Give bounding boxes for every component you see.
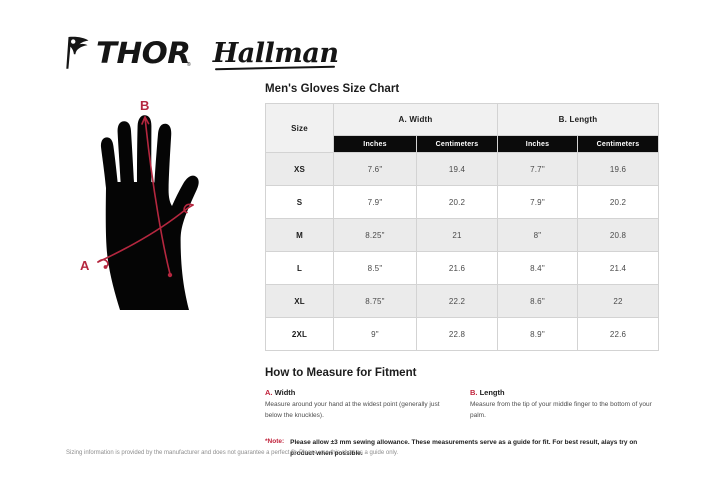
table-row: S 7.9" 20.2 7.9" 20.2 [266,186,659,219]
length-marker-letter: B. [470,388,478,397]
how-to-width-block: A. Width Measure around your hand at the… [265,388,452,421]
thor-helmet-icon [64,35,94,71]
how-to-length-body: Measure from the tip of your middle fing… [470,400,657,421]
thor-wordmark: THOR [96,39,190,68]
cell-length-cm: 21.4 [578,252,659,285]
cell-width-cm: 21.6 [417,252,498,285]
cell-length-inches: 8" [498,219,578,252]
cell-size: S [266,186,334,219]
hand-measurement-diagram: B A [62,92,262,322]
thor-logo: THOR ® [64,35,191,71]
page-title: Men's Gloves Size Chart [265,83,658,95]
cell-length-inches: 8.6" [498,285,578,318]
cell-width-cm: 19.4 [417,153,498,186]
how-to-measure-title: How to Measure for Fitment [265,367,658,379]
cell-length-cm: 22.6 [578,318,659,351]
table-row: 2XL 9" 22.8 8.9" 22.6 [266,318,659,351]
header-group-length: B. Length [498,104,659,136]
cell-width-inches: 8.75" [334,285,417,318]
cell-size: 2XL [266,318,334,351]
width-marker-letter: A. [265,388,273,397]
cell-length-inches: 8.9" [498,318,578,351]
cell-size: XS [266,153,334,186]
header-group-width: A. Width [334,104,498,136]
cell-width-cm: 21 [417,219,498,252]
size-chart-table: Size A. Width B. Length Inches Centimete… [265,103,659,351]
header-length-centimeters: Centimeters [578,136,659,153]
how-to-length-block: B. Length Measure from the tip of your m… [470,388,657,421]
table-row: XS 7.6" 19.4 7.7" 19.6 [266,153,659,186]
diagram-label-a: A [80,258,90,273]
cell-width-inches: 7.6" [334,153,417,186]
cell-length-cm: 22 [578,285,659,318]
cell-length-inches: 7.9" [498,186,578,219]
width-endpoint-dot [104,265,108,269]
how-to-length-heading: B. Length [470,388,657,397]
hallman-wordmark: Hallman [213,38,339,69]
cell-width-inches: 8.5" [334,252,417,285]
header-width-centimeters: Centimeters [417,136,498,153]
length-heading-label: Length [480,388,505,397]
cell-size: L [266,252,334,285]
cell-length-cm: 20.2 [578,186,659,219]
table-row: XL 8.75" 22.2 8.6" 22 [266,285,659,318]
cell-width-cm: 20.2 [417,186,498,219]
cell-width-cm: 22.8 [417,318,498,351]
table-header-groups: Size A. Width B. Length [266,104,659,136]
diagram-label-b: B [140,98,149,113]
header-size: Size [266,104,334,153]
width-heading-label: Width [275,388,296,397]
cell-length-inches: 8.4" [498,252,578,285]
header-length-inches: Inches [498,136,578,153]
header-width-inches: Inches [334,136,417,153]
hand-silhouette [101,115,199,310]
cell-length-cm: 19.6 [578,153,659,186]
how-to-width-body: Measure around your hand at the widest p… [265,400,452,421]
table-row: M 8.25" 21 8" 20.8 [266,219,659,252]
disclaimer-footer: Sizing information is provided by the ma… [66,448,466,459]
how-to-measure-section: How to Measure for Fitment A. Width Meas… [265,367,658,460]
note-label: *Note: [265,438,284,445]
cell-width-inches: 8.25" [334,219,417,252]
cell-size: XL [266,285,334,318]
size-chart-panel: Men's Gloves Size Chart Size A. Width B.… [265,83,658,460]
brand-logo-bar: THOR ® Hallman [64,33,338,73]
cell-length-cm: 20.8 [578,219,659,252]
cell-width-inches: 7.9" [334,186,417,219]
cell-size: M [266,219,334,252]
cell-width-inches: 9" [334,318,417,351]
table-row: L 8.5" 21.6 8.4" 21.4 [266,252,659,285]
cell-length-inches: 7.7" [498,153,578,186]
hallman-logo: Hallman [213,40,339,67]
how-to-width-heading: A. Width [265,388,452,397]
cell-width-cm: 22.2 [417,285,498,318]
length-endpoint-dot [168,273,172,277]
